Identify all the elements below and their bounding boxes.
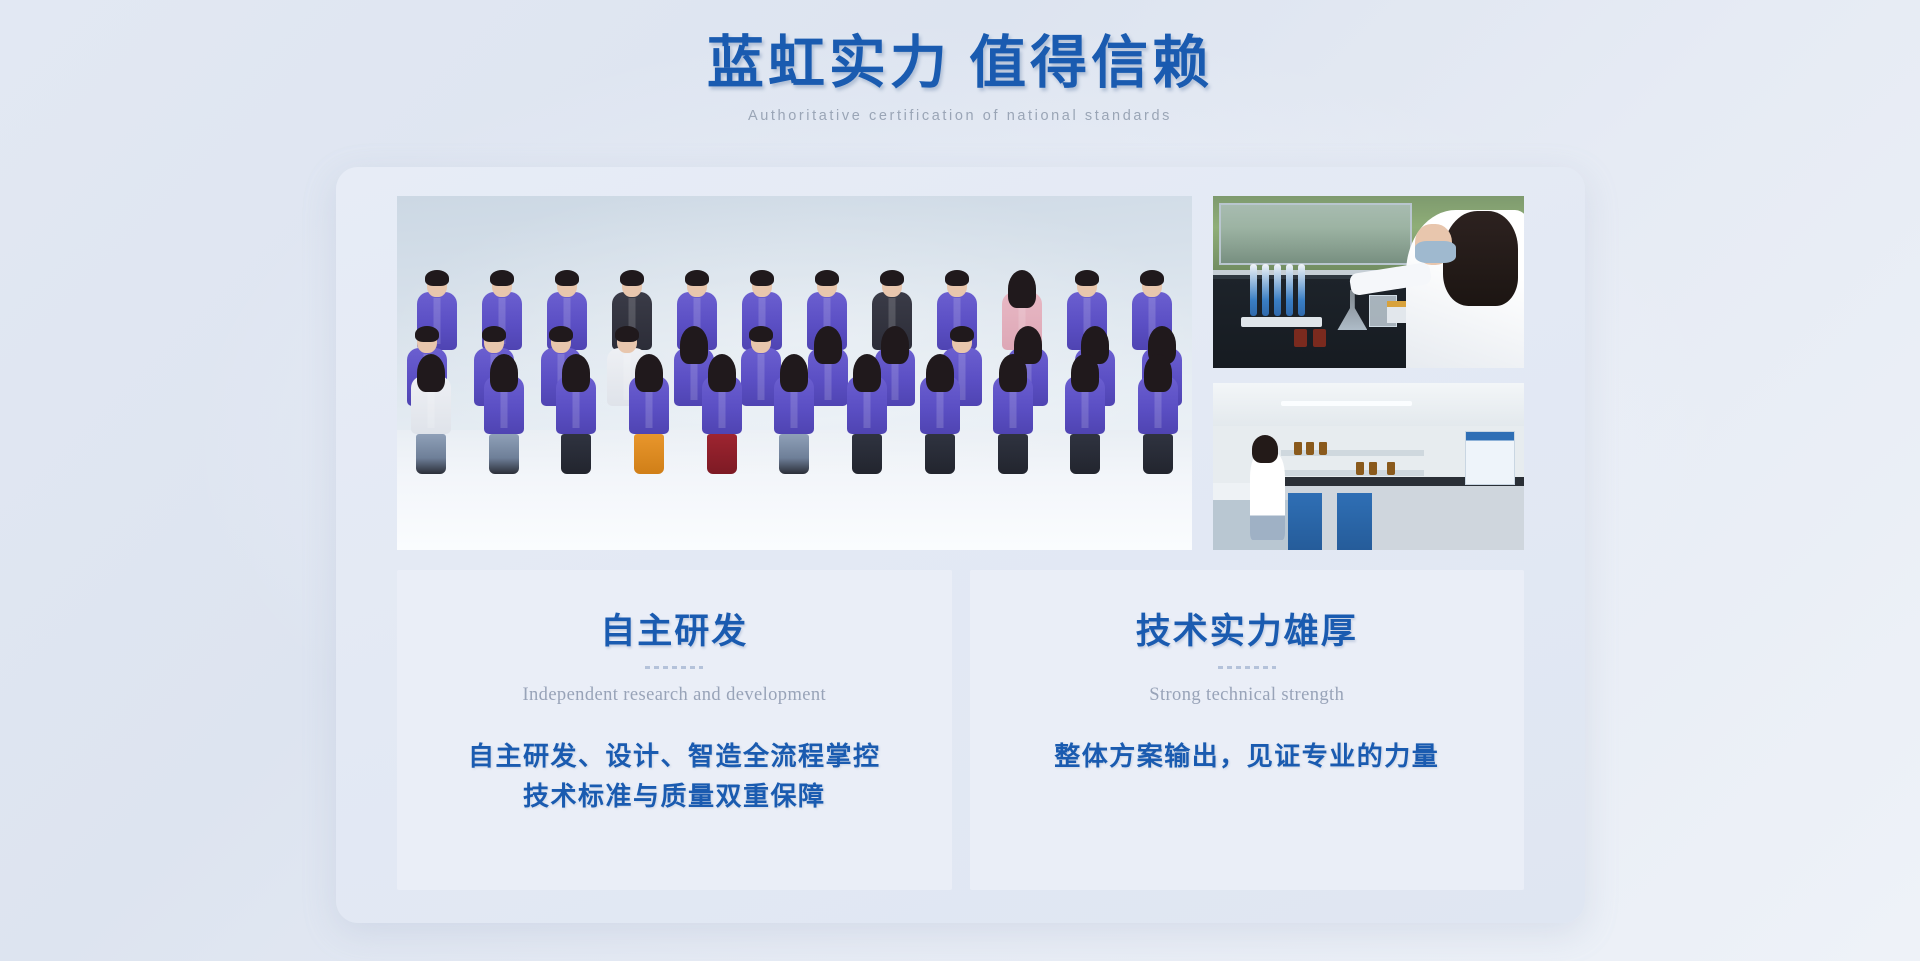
reagent-bottle <box>1294 442 1302 455</box>
pipette-rack <box>1241 317 1322 327</box>
reagent-bottle <box>1294 329 1307 347</box>
feature-card-body: 自主研发、设计、智造全流程掌控 技术标准与质量双重保障 <box>397 737 952 818</box>
researcher-hair <box>1252 435 1278 463</box>
ceiling-light <box>1281 401 1412 406</box>
page-header: 蓝虹实力 值得信赖 Authoritative certification of… <box>0 28 1920 124</box>
feature-card-subtitle: Independent research and development <box>397 685 952 706</box>
reagent-bottle <box>1387 462 1395 475</box>
dashed-divider-icon <box>645 666 703 669</box>
face-mask-icon <box>1415 241 1455 263</box>
lab-bench-photo[interactable] <box>1213 196 1524 368</box>
feature-card-body-line: 技术标准与质量双重保障 <box>397 777 952 817</box>
page-subtitle: Authoritative certification of national … <box>0 108 1920 124</box>
feature-card-independent-rd[interactable]: 自主研发 Independent research and developmen… <box>397 570 952 890</box>
reagent-shelf <box>1281 450 1424 456</box>
reagent-bottle <box>1369 462 1377 475</box>
reagent-shelf <box>1281 470 1424 476</box>
feature-card-title: 技术实力雄厚 <box>970 603 1525 654</box>
researcher-coat <box>1250 453 1284 540</box>
team-group-photo[interactable] <box>397 196 1192 550</box>
fume-hood-glass <box>1219 203 1412 265</box>
feature-card-body: 整体方案输出，见证专业的力量 <box>970 737 1525 777</box>
blue-cabinet <box>1337 493 1371 550</box>
safety-poster <box>1465 431 1515 484</box>
lab-photo-column <box>1213 196 1524 550</box>
dashed-divider-icon <box>1218 666 1276 669</box>
pipette-set <box>1250 264 1305 316</box>
blue-cabinet <box>1288 493 1322 550</box>
feature-card-body-line: 自主研发、设计、智造全流程掌控 <box>397 737 952 777</box>
feature-card-body-line: 整体方案输出，见证专业的力量 <box>970 737 1525 777</box>
feature-card-list: 自主研发 Independent research and developmen… <box>397 570 1524 890</box>
page-title: 蓝虹实力 值得信赖 <box>0 28 1920 99</box>
feature-card-technical-strength[interactable]: 技术实力雄厚 Strong technical strength 整体方案输出，… <box>970 570 1525 890</box>
reagent-bottle <box>1319 442 1327 455</box>
feature-card-subtitle: Strong technical strength <box>970 685 1525 706</box>
reagent-bottle <box>1313 329 1326 347</box>
photo-gallery <box>397 196 1524 550</box>
reagent-bottle <box>1306 442 1314 455</box>
reagent-bottle <box>1356 462 1364 475</box>
lab-room-photo[interactable] <box>1213 383 1524 550</box>
feature-card-title: 自主研发 <box>397 603 952 654</box>
content-panel: 自主研发 Independent research and developmen… <box>336 167 1585 923</box>
